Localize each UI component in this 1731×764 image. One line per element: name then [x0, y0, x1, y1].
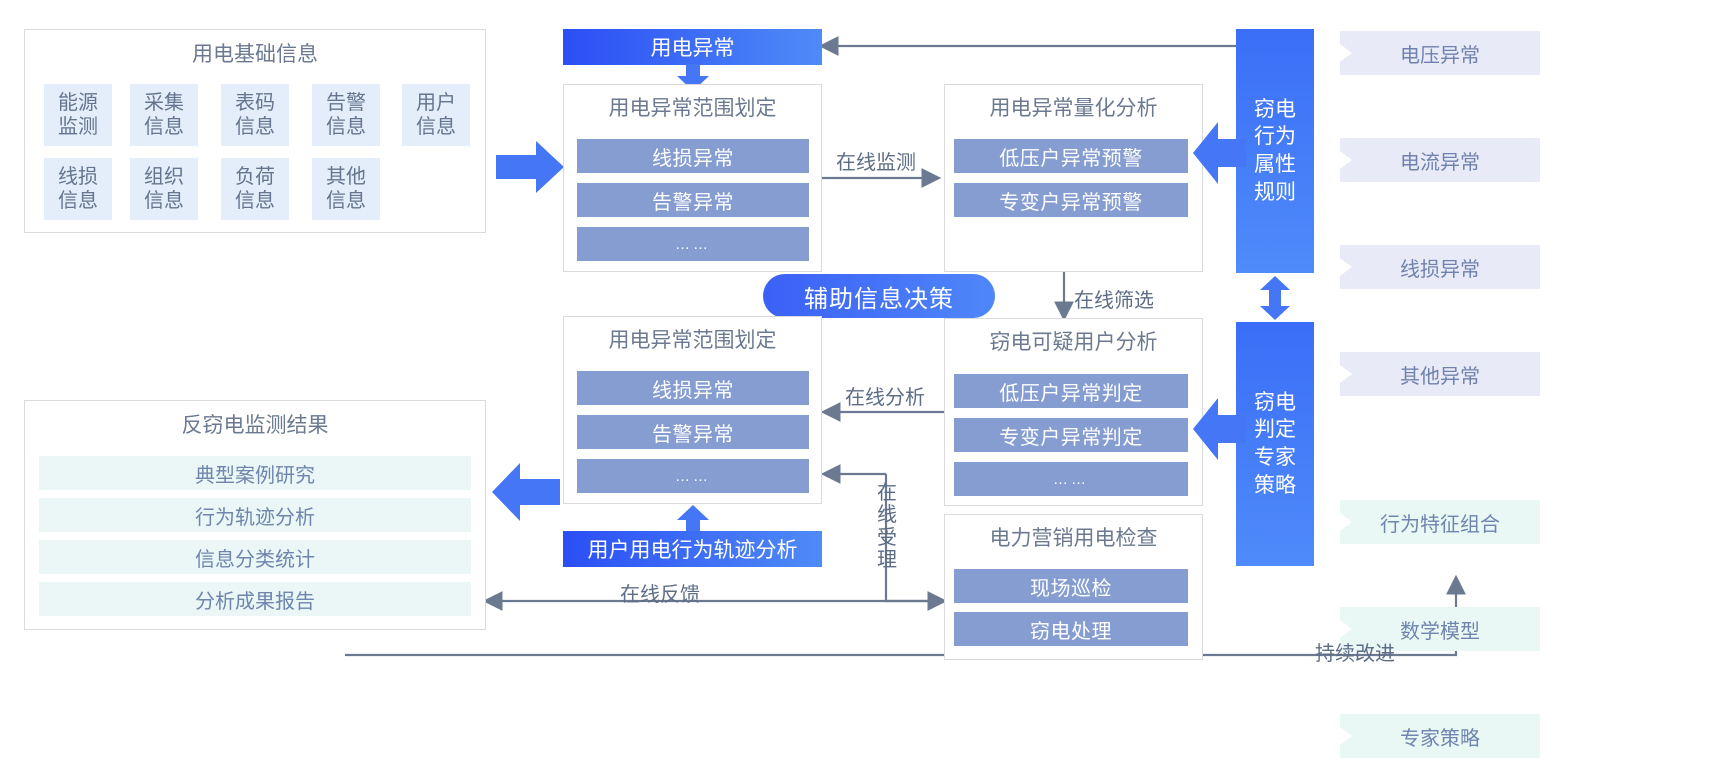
tag-notch-icon: [1340, 258, 1352, 276]
label-online-analysis: 在线分析: [845, 381, 925, 410]
scope-mid-row-line-loss[interactable]: 线损异常: [577, 371, 809, 405]
suspect-analysis-title: 窃电可疑用户分析: [945, 330, 1202, 355]
quant-analysis-panel: 用电异常量化分析: [944, 84, 1203, 272]
label-online-monitor: 在线监测: [836, 146, 916, 175]
tag-notch-icon: [1340, 727, 1352, 745]
arrow-left-expert-to-suspect: [1192, 396, 1246, 462]
label-online-feedback: 在线反馈: [620, 578, 700, 607]
results-row-analysis-report[interactable]: 分析成果报告: [39, 582, 471, 616]
inspection-row-theft-handling[interactable]: 窃电处理: [954, 612, 1188, 646]
expert-tag-expert-strategy[interactable]: 专家策略: [1340, 714, 1540, 758]
rule-tag-label: 其他异常: [1400, 360, 1480, 389]
double-arrow-between-columns: [1257, 276, 1293, 320]
label-online-accept: 在线受理: [876, 482, 898, 572]
suspect-row-special-user-judge[interactable]: 专变户异常判定: [954, 418, 1188, 452]
chip-collection-info[interactable]: 采集 信息: [130, 84, 198, 146]
rule-tag-label: 电流异常: [1400, 146, 1480, 175]
decision-pill[interactable]: 辅助信息决策: [763, 274, 995, 318]
suspect-row-lv-user-judge[interactable]: 低压户异常判定: [954, 374, 1188, 408]
tag-notch-icon: [1340, 513, 1352, 531]
expert-tag-label: 行为特征组合: [1380, 508, 1500, 537]
rule-tag-other-abnormal[interactable]: 其他异常: [1340, 352, 1540, 396]
results-title: 反窃电监测结果: [25, 413, 485, 438]
scope-top-row-line-loss[interactable]: 线损异常: [577, 139, 809, 173]
tag-notch-icon: [1340, 44, 1352, 62]
tag-notch-icon: [1340, 365, 1352, 383]
tag-notch-icon: [1340, 151, 1352, 169]
results-row-case-study[interactable]: 典型案例研究: [39, 456, 471, 490]
flow-arrow-right-top: [496, 139, 566, 195]
chip-energy-monitor[interactable]: 能源 监测: [44, 84, 112, 146]
tag-notch-icon: [1340, 620, 1352, 638]
chip-line-loss-info[interactable]: 线损 信息: [44, 158, 112, 220]
abnormal-power-banner[interactable]: 用电异常: [563, 29, 822, 65]
chip-user-info[interactable]: 用户 信息: [402, 84, 470, 146]
chip-load-info[interactable]: 负荷 信息: [221, 158, 289, 220]
user-behavior-trajectory-banner[interactable]: 用户用电行为轨迹分析: [563, 531, 822, 567]
arrow-left-rules-to-quant: [1192, 120, 1246, 186]
results-row-behavior-trajectory[interactable]: 行为轨迹分析: [39, 498, 471, 532]
scope-mid-row-more[interactable]: ……: [577, 459, 809, 493]
scope-mid-row-alarm[interactable]: 告警异常: [577, 415, 809, 449]
basic-info-title: 用电基础信息: [25, 42, 485, 67]
scope-mid-title: 用电异常范围划定: [564, 328, 821, 353]
expert-tag-behavior-feature-combo[interactable]: 行为特征组合: [1340, 500, 1540, 544]
arrow-up-to-scope-mid: [676, 505, 710, 532]
label-online-filter: 在线筛选: [1074, 284, 1154, 313]
suspect-row-more[interactable]: ……: [954, 462, 1188, 496]
scope-top-title: 用电异常范围划定: [564, 96, 821, 121]
expert-tag-label: 数学模型: [1400, 615, 1480, 644]
chip-meter-code-info[interactable]: 表码 信息: [221, 84, 289, 146]
quant-row-special-user-warning[interactable]: 专变户异常预警: [954, 183, 1188, 217]
rule-tag-line-loss-abnormal[interactable]: 线损异常: [1340, 245, 1540, 289]
chip-organization-info[interactable]: 组织 信息: [130, 158, 198, 220]
results-row-info-classification[interactable]: 信息分类统计: [39, 540, 471, 574]
inspection-row-site-patrol[interactable]: 现场巡检: [954, 569, 1188, 603]
expert-tag-label: 专家策略: [1400, 722, 1480, 751]
rule-tag-label: 线损异常: [1400, 253, 1480, 282]
inspection-title: 电力营销用电检查: [945, 526, 1202, 551]
quant-row-lv-user-warning[interactable]: 低压户异常预警: [954, 139, 1188, 173]
theft-rules-column[interactable]: 窃电 行为 属性 规则: [1236, 29, 1314, 273]
chip-alarm-info[interactable]: 告警 信息: [312, 84, 380, 146]
rule-tag-current-abnormal[interactable]: 电流异常: [1340, 138, 1540, 182]
expert-strategy-column[interactable]: 窃电 判定 专家 策略: [1236, 322, 1314, 566]
quant-analysis-title: 用电异常量化分析: [945, 96, 1202, 121]
rule-tag-label: 电压异常: [1400, 39, 1480, 68]
scope-top-row-alarm[interactable]: 告警异常: [577, 183, 809, 217]
label-continuous-improve: 持续改进: [1315, 637, 1395, 666]
scope-top-row-more[interactable]: ……: [577, 227, 809, 261]
rule-tag-voltage-abnormal[interactable]: 电压异常: [1340, 31, 1540, 75]
flow-arrow-left-bottom: [490, 460, 560, 524]
diagram-canvas: 用电基础信息 能源 监测 采集 信息 表码 信息 告警 信息 用户 信息 线损 …: [0, 0, 1731, 764]
chip-other-info[interactable]: 其他 信息: [312, 158, 380, 220]
